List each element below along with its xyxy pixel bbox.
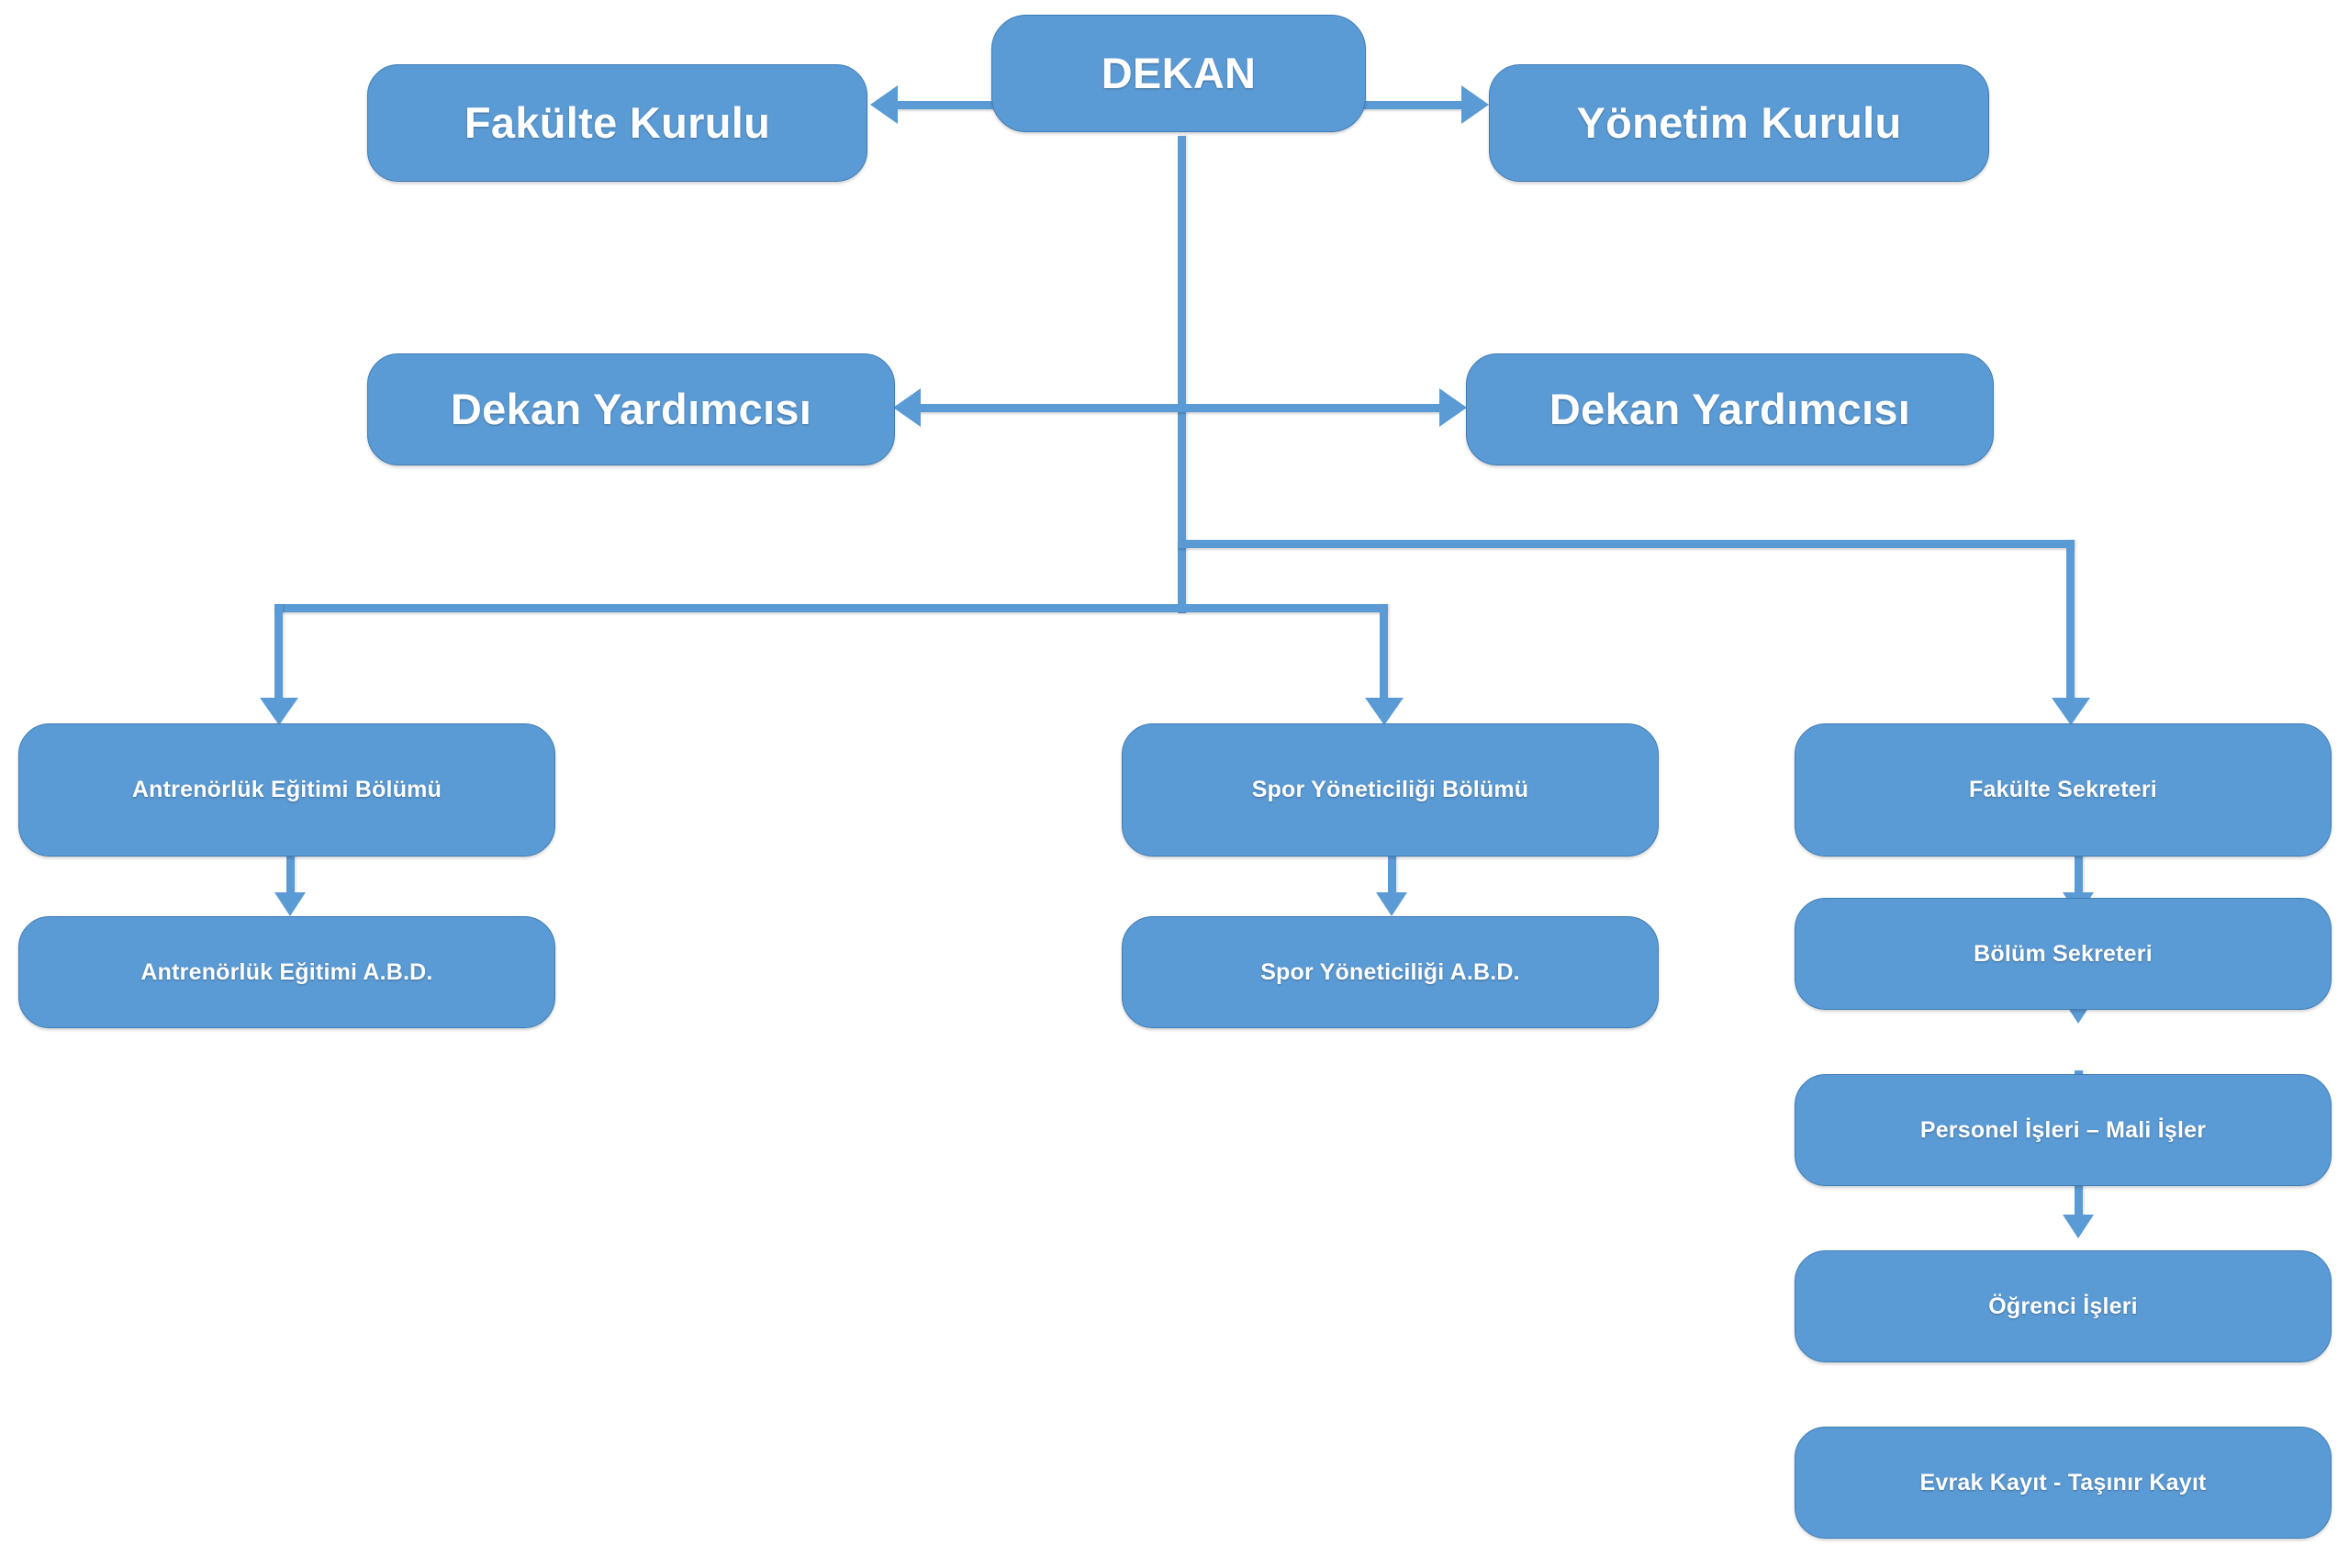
node-antrenorluk-egitimi-abd-label: Antrenörlük Eğitimi A.B.D. — [128, 959, 445, 986]
node-antrenorluk-egitimi-abd[interactable]: Antrenörlük Eğitimi A.B.D. — [18, 916, 555, 1028]
connector-branch-lower-horizontal — [274, 604, 1388, 612]
node-spor-yoneticiligi-abd[interactable]: Spor Yöneticiliği A.B.D. — [1122, 916, 1659, 1028]
node-dekan-yardimcisi-sag-label: Dekan Yardımcısı — [1537, 385, 1923, 434]
node-ogrenci-isleri[interactable]: Öğrenci İşleri — [1795, 1250, 2332, 1362]
node-fakulte-sekreteri[interactable]: Fakülte Sekreteri — [1795, 723, 2332, 857]
arrow-down-antrenorluk-bolumu — [260, 698, 298, 725]
arrow-left-fakulte-kurulu — [870, 85, 898, 124]
connector-dekan-yardimcisi-bar — [918, 404, 1441, 412]
arrow-down-spor-yoneticiligi-bolumu — [1365, 698, 1404, 725]
node-fakulte-kurulu[interactable]: Fakülte Kurulu — [367, 64, 867, 182]
arrow-down-spor-yoneticiligi-abd — [1376, 892, 1407, 916]
node-dekan-yardimcisi-sol[interactable]: Dekan Yardımcısı — [367, 353, 895, 465]
arrow-left-dekan-yardimcisi-sol — [893, 388, 921, 427]
node-spor-yoneticiligi-bolumu-label: Spor Yöneticiliği Bölümü — [1239, 777, 1542, 803]
arrow-right-yonetim-kurulu — [1461, 85, 1489, 124]
node-bolum-sekreteri-label: Bölüm Sekreteri — [1961, 941, 2165, 968]
connector-branch-left-vertical — [274, 604, 283, 702]
node-dekan[interactable]: DEKAN — [991, 15, 1366, 132]
node-antrenorluk-egitimi-bolumu[interactable]: Antrenörlük Eğitimi Bölümü — [18, 723, 555, 857]
node-personel-mali-isler-label: Personel İşleri – Mali İşler — [1907, 1117, 2219, 1144]
arrow-down-evrak-kayit — [2063, 1215, 2094, 1238]
node-fakulte-kurulu-label: Fakülte Kurulu — [452, 98, 783, 148]
arrow-down-antrenorluk-abd — [274, 892, 306, 916]
connector-dekan-to-yonetim-kurulu — [1359, 101, 1464, 109]
node-spor-yoneticiligi-bolumu[interactable]: Spor Yöneticiliği Bölümü — [1122, 723, 1659, 857]
org-chart-canvas: DEKAN Fakülte Kurulu Yönetim Kurulu Deka… — [0, 0, 2349, 1568]
node-evrak-tasinir-kayit-label: Evrak Kayıt - Taşınır Kayıt — [1907, 1470, 2219, 1496]
node-dekan-yardimcisi-sag[interactable]: Dekan Yardımcısı — [1466, 353, 1994, 465]
node-ogrenci-isleri-label: Öğrenci İşleri — [1975, 1294, 2151, 1320]
arrow-right-dekan-yardimcisi-sag — [1439, 388, 1467, 427]
node-fakulte-sekreteri-label: Fakülte Sekreteri — [1956, 777, 2170, 803]
connector-branch-upper-horizontal — [1178, 540, 2075, 548]
node-bolum-sekreteri[interactable]: Bölüm Sekreteri — [1795, 898, 2332, 1010]
node-dekan-label: DEKAN — [1089, 49, 1270, 98]
node-spor-yoneticiligi-abd-label: Spor Yöneticiliği A.B.D. — [1247, 959, 1533, 986]
connector-branch-right-vertical — [2066, 540, 2075, 702]
arrow-down-fakulte-sekreteri — [2052, 698, 2090, 725]
node-personel-mali-isler[interactable]: Personel İşleri – Mali İşler — [1795, 1074, 2332, 1186]
connector-dekan-to-fakulte-kurulu — [895, 101, 996, 109]
node-evrak-tasinir-kayit[interactable]: Evrak Kayıt - Taşınır Kayıt — [1795, 1427, 2332, 1539]
connector-branch-middle-vertical — [1380, 604, 1388, 702]
node-yonetim-kurulu[interactable]: Yönetim Kurulu — [1489, 64, 1989, 182]
node-yonetim-kurulu-label: Yönetim Kurulu — [1563, 98, 1914, 148]
node-dekan-yardimcisi-sol-label: Dekan Yardımcısı — [438, 385, 824, 434]
node-antrenorluk-egitimi-bolumu-label: Antrenörlük Eğitimi Bölümü — [119, 777, 454, 803]
